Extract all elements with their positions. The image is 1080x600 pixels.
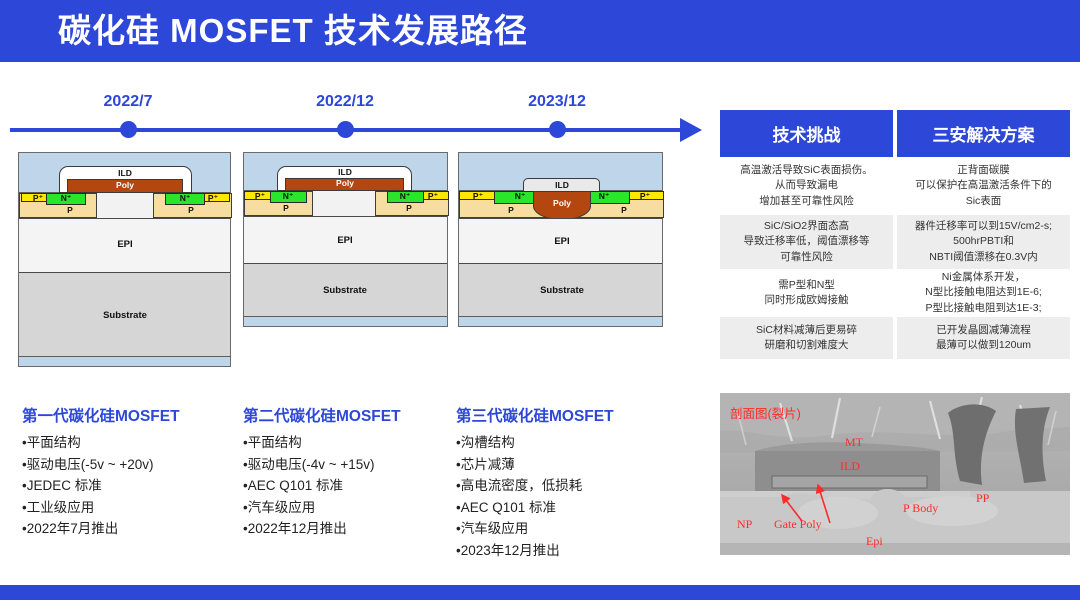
p-plus-label-left: P⁺ xyxy=(255,191,265,202)
cell-line: N型比接触电阻达到1E-6; xyxy=(901,285,1066,301)
p-label-right: P xyxy=(621,205,627,215)
timeline-dot-2[interactable] xyxy=(337,121,354,138)
cell-line: 增加甚至可靠性风险 xyxy=(724,194,889,210)
p-plus-label-right: P⁺ xyxy=(208,193,218,204)
n-plus-label-right: N⁺ xyxy=(180,193,191,204)
sem-label-mt: MT xyxy=(845,435,863,450)
p-plus-label-right: P⁺ xyxy=(428,191,438,202)
table-row: SiC/SiO2界面态高 导致迁移率低，阈值漂移等 可靠性风险 器件迁移率可以到… xyxy=(720,215,1070,269)
sem-label-epi: Epi xyxy=(866,534,883,549)
p-plus-label-right: P⁺ xyxy=(640,191,650,202)
list-item: •驱动电压(-5v ~ +20v) xyxy=(22,454,154,476)
list-item: •汽车级应用 xyxy=(243,497,375,519)
n-plus-label-left: N⁺ xyxy=(61,193,72,204)
cell-line: 可靠性风险 xyxy=(724,250,889,266)
p-label-left: P xyxy=(283,203,289,213)
cell-line: Sic表面 xyxy=(901,194,1066,210)
p-label-right: P xyxy=(406,203,412,213)
cell-solution: 器件迁移率可以到15V/cm2-s; 500hrPBTI和 NBTI阈值漂移在0… xyxy=(897,215,1070,269)
gen3-bullet-list: •沟槽结构 •芯片减薄 •高电流密度，低损耗 •AEC Q101 标准 •汽车级… xyxy=(456,432,582,561)
list-item: •平面结构 xyxy=(22,432,154,454)
gen2-bullet-list: •平面结构 •驱动电压(-4v ~ +15v) •AEC Q101 标准 •汽车… xyxy=(243,432,375,540)
cell-solution: Ni金属体系开发， N型比接触电阻达到1E-6; P型比接触电阻到达1E-3; xyxy=(897,269,1070,317)
sem-caption: 剖面图(裂片) xyxy=(730,403,801,422)
sem-label-ild: ILD xyxy=(840,459,860,474)
timeline-label-2: 2022/12 xyxy=(316,93,374,111)
cell-challenge: 需P型和N型 同时形成欧姆接触 xyxy=(720,269,893,317)
list-item: •平面结构 xyxy=(243,432,375,454)
sem-label-pp: PP xyxy=(976,491,989,506)
cell-line: SiC/SiO2界面态高 xyxy=(724,219,889,235)
epi-label: EPI xyxy=(117,239,132,250)
cell-line: 500hrPBTI和 xyxy=(901,234,1066,250)
list-item: •2023年12月推出 xyxy=(456,540,582,562)
p-label-right: P xyxy=(188,205,194,215)
p-plus-label-left: P⁺ xyxy=(473,191,483,202)
list-item: •芯片减薄 xyxy=(456,454,582,476)
table-row: 高温激活导致SiC表面损伤。 从而导致漏电 增加甚至可靠性风险 正背面碳膜 可以… xyxy=(720,157,1070,215)
poly-label: Poly xyxy=(336,178,354,188)
cell-challenge: SiC材料减薄后更易碎 研磨和切割难度大 xyxy=(720,317,893,359)
gen3-title: 第三代碳化硅MOSFET xyxy=(456,404,614,426)
timeline-label-3: 2023/12 xyxy=(528,93,586,111)
device-diagram-gen3: ILD P P P⁺ P⁺ N⁺ N⁺ Poly EPI Substrate xyxy=(458,152,663,327)
cell-line: 最薄可以做到120um xyxy=(901,338,1066,354)
challenge-solution-table: 技术挑战 三安解决方案 高温激活导致SiC表面损伤。 从而导致漏电 增加甚至可靠… xyxy=(720,110,1070,359)
cell-line: SiC材料减薄后更易碎 xyxy=(724,323,889,339)
cell-line: 从而导致漏电 xyxy=(724,178,889,194)
table-row: SiC材料减薄后更易碎 研磨和切割难度大 已开发晶圆减薄流程 最薄可以做到120… xyxy=(720,317,1070,359)
cell-line: P型比接触电阻到达1E-3; xyxy=(901,301,1066,317)
cell-challenge: SiC/SiO2界面态高 导致迁移率低，阈值漂移等 可靠性风险 xyxy=(720,215,893,269)
ild-label: ILD xyxy=(338,167,352,177)
cell-line: Ni金属体系开发， xyxy=(901,270,1066,286)
n-plus-label-left: N⁺ xyxy=(283,191,294,202)
p-label-left: P xyxy=(508,205,514,215)
cell-solution: 已开发晶圆减薄流程 最薄可以做到120um xyxy=(897,317,1070,359)
cell-challenge: 高温激活导致SiC表面损伤。 从而导致漏电 增加甚至可靠性风险 xyxy=(720,157,893,215)
drain-metal-layer xyxy=(244,316,447,326)
cell-line: 已开发晶圆减薄流程 xyxy=(901,323,1066,339)
list-item: •工业级应用 xyxy=(22,497,154,519)
sem-label-gate-poly: Gate Poly xyxy=(774,517,822,532)
p-plus-label-left: P⁺ xyxy=(33,193,43,204)
cell-line: 正背面碳膜 xyxy=(901,163,1066,179)
timeline-label-1: 2022/7 xyxy=(104,93,153,111)
list-item: •驱动电压(-4v ~ +15v) xyxy=(243,454,375,476)
cell-line: NBTI阈值漂移在0.3V内 xyxy=(901,250,1066,266)
table-header-row: 技术挑战 三安解决方案 xyxy=(720,110,1070,157)
ild-label: ILD xyxy=(118,168,132,178)
n-plus-label-right: N⁺ xyxy=(400,191,411,202)
cell-line: 同时形成欧姆接触 xyxy=(724,293,889,309)
list-item: •汽车级应用 xyxy=(456,518,582,540)
list-item: •AEC Q101 标准 xyxy=(456,497,582,519)
cell-line: 高温激活导致SiC表面损伤。 xyxy=(724,163,889,179)
list-item: •AEC Q101 标准 xyxy=(243,475,375,497)
sem-label-np: NP xyxy=(737,517,752,532)
gen1-bullet-list: •平面结构 •驱动电压(-5v ~ +20v) •JEDEC 标准 •工业级应用… xyxy=(22,432,154,540)
footer-bar xyxy=(0,585,1080,600)
p-label-left: P xyxy=(67,205,73,215)
device-diagram-gen1: ILD Poly P P P⁺ P⁺ N⁺ N⁺ EPI Substrate xyxy=(18,152,231,367)
poly-label: Poly xyxy=(116,180,134,190)
list-item: •沟槽结构 xyxy=(456,432,582,454)
title-bar: 碳化硅 MOSFET 技术发展路径 xyxy=(0,0,1080,62)
drain-metal-layer xyxy=(459,316,662,326)
cell-line: 器件迁移率可以到15V/cm2-s; xyxy=(901,219,1066,235)
poly-label: Poly xyxy=(553,198,571,208)
gen2-title: 第二代碳化硅MOSFET xyxy=(243,404,401,426)
n-plus-label-right: N⁺ xyxy=(599,191,610,202)
list-item: •2022年12月推出 xyxy=(243,518,375,540)
cell-line: 研磨和切割难度大 xyxy=(724,338,889,354)
list-item: •高电流密度，低损耗 xyxy=(456,475,582,497)
epi-label: EPI xyxy=(554,236,569,247)
cell-line: 导致迁移率低，阈值漂移等 xyxy=(724,234,889,250)
sem-label-p-body: P Body xyxy=(903,501,938,516)
cell-line: 可以保护在高温激活条件下的 xyxy=(901,178,1066,194)
drain-metal-layer xyxy=(19,356,230,366)
ild-label: ILD xyxy=(555,180,569,190)
table-header-solution: 三安解决方案 xyxy=(897,110,1070,157)
cell-solution: 正背面碳膜 可以保护在高温激活条件下的 Sic表面 xyxy=(897,157,1070,215)
substrate-label: Substrate xyxy=(540,285,584,296)
list-item: •2022年7月推出 xyxy=(22,518,154,540)
n-plus-label-left: N⁺ xyxy=(515,191,526,202)
timeline-dot-1[interactable] xyxy=(120,121,137,138)
table-header-challenge: 技术挑战 xyxy=(720,110,893,157)
gen1-title: 第一代碳化硅MOSFET xyxy=(22,404,180,426)
cell-line: 需P型和N型 xyxy=(724,278,889,294)
page-title: 碳化硅 MOSFET 技术发展路径 xyxy=(58,8,528,54)
timeline-arrow-icon xyxy=(680,118,702,142)
table-row: 需P型和N型 同时形成欧姆接触 Ni金属体系开发， N型比接触电阻达到1E-6;… xyxy=(720,269,1070,317)
timeline-dot-3[interactable] xyxy=(549,121,566,138)
substrate-label: Substrate xyxy=(323,285,367,296)
list-item: •JEDEC 标准 xyxy=(22,475,154,497)
device-diagram-gen2: ILD Poly P P P⁺ P⁺ N⁺ N⁺ EPI Substrate xyxy=(243,152,448,327)
substrate-label: Substrate xyxy=(103,310,147,321)
sem-cross-section-image: 剖面图(裂片) MT ILD NP Gate Poly P Body Epi P… xyxy=(720,393,1070,555)
epi-label: EPI xyxy=(337,235,352,246)
